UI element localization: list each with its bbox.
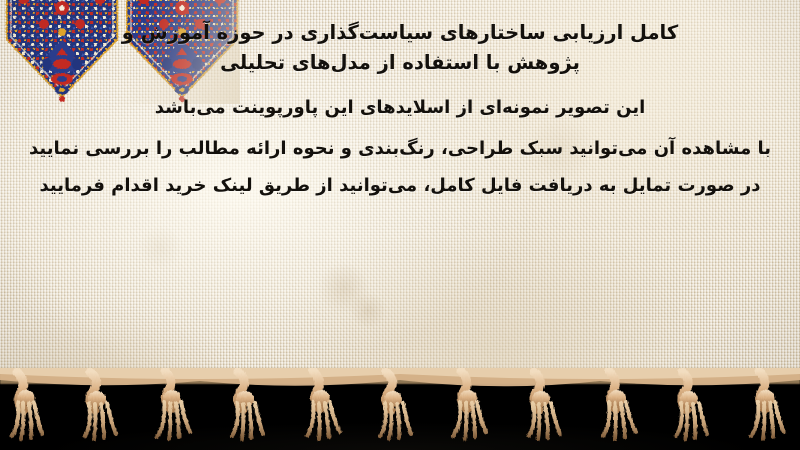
slide-title-line-2: پژوهش با استفاده از مدل‌های تحلیلی [18,48,782,78]
carpet-fringe-tassels [0,368,800,450]
slide-canvas: کامل ارزیابی ساختارهای سیاست‌گذاری در حو… [0,0,800,450]
slide-body-line-3: در صورت تمایل به دریافت فایل کامل، می‌تو… [18,177,782,195]
slide-title-line-1: کامل ارزیابی ساختارهای سیاست‌گذاری در حو… [18,18,782,48]
slide-body-line-1: این تصویر نمونه‌ای از اسلایدهای این پاور… [18,99,782,117]
slide-title: کامل ارزیابی ساختارهای سیاست‌گذاری در حو… [18,18,782,78]
slide-body-line-2: با مشاهده آن می‌توانید سبک طراحی، رنگ‌بن… [18,140,782,158]
slide-body: این تصویر نمونه‌ای از اسلایدهای این پاور… [18,99,782,195]
